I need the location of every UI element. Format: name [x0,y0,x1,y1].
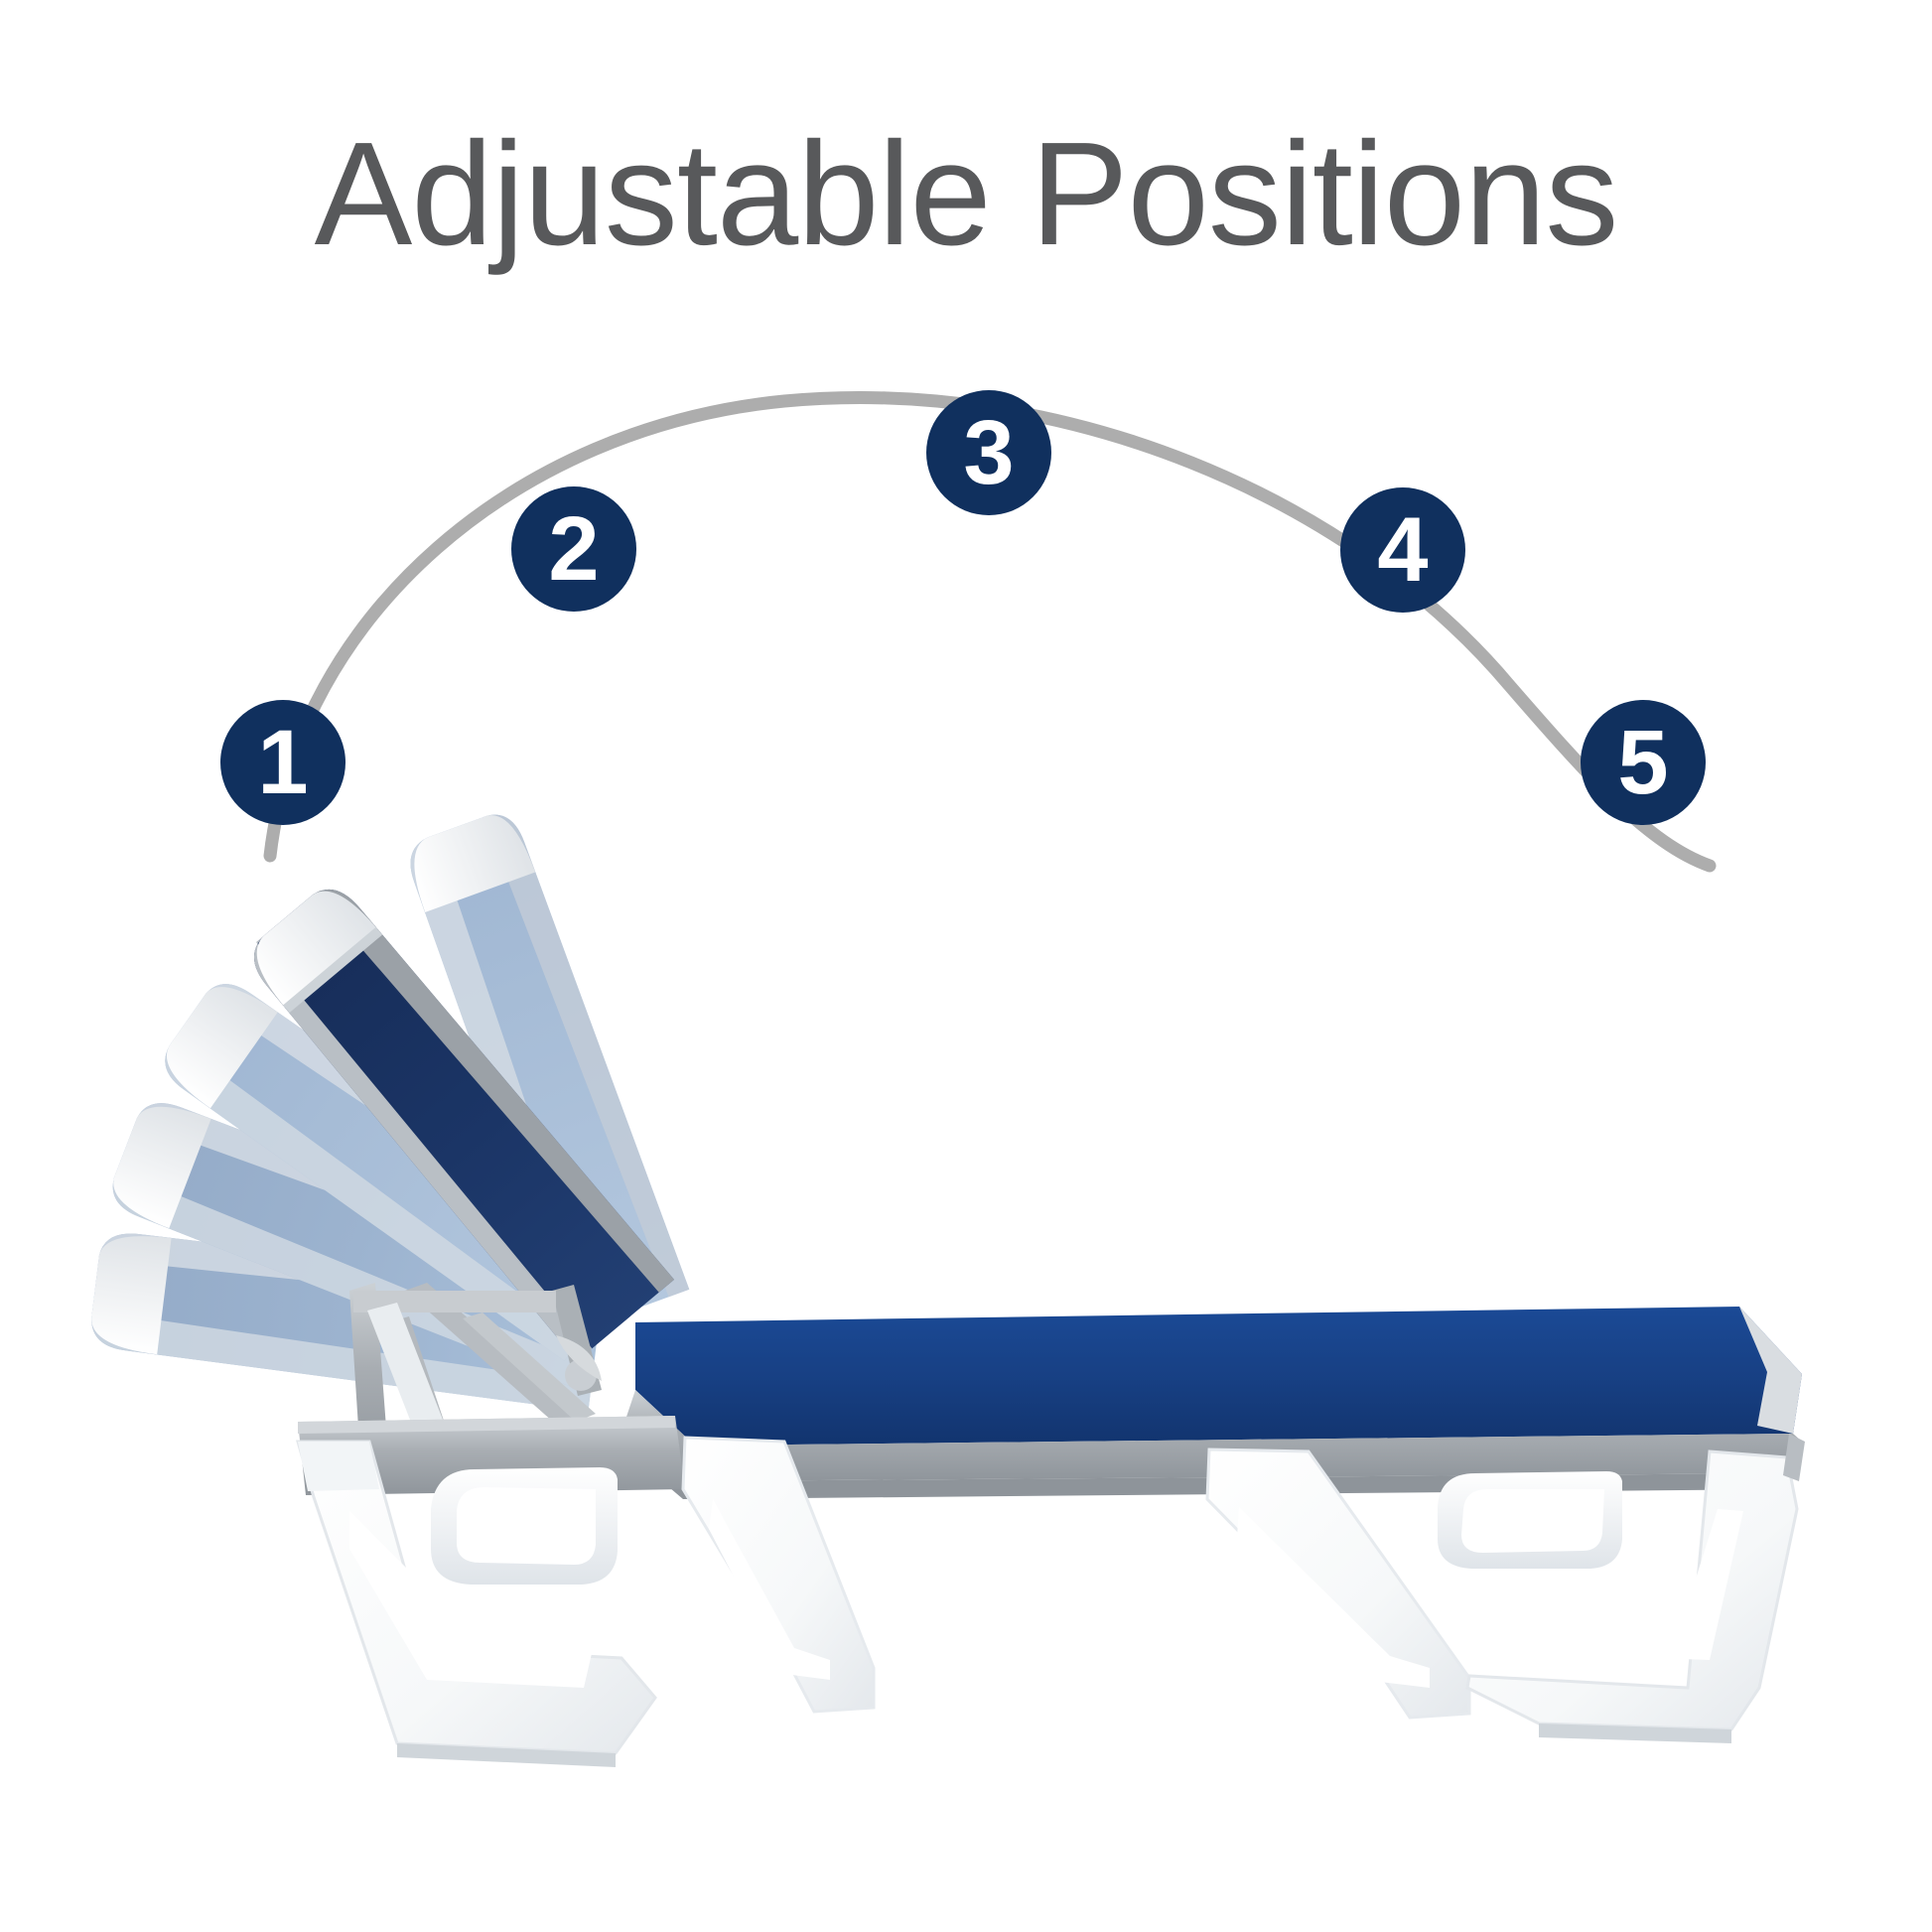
position-badge-2-label: 2 [548,498,599,600]
wheel-housing-inner [457,1487,596,1565]
position-badges: 1 2 3 4 5 [220,390,1706,825]
position-badge-3-label: 3 [963,402,1014,503]
front-wheel-housing [1438,1471,1622,1569]
rear-wheel-housing [431,1467,618,1585]
position-badge-2[interactable]: 2 [511,486,636,612]
position-badge-4[interactable]: 4 [1340,487,1465,613]
position-badge-5-label: 5 [1617,712,1668,813]
infographic-canvas: Adjustable Positions [0,0,1932,1932]
position-badge-3[interactable]: 3 [926,390,1051,515]
chaise-lounge-illustration [87,806,1805,1767]
position-badge-1[interactable]: 1 [220,700,345,825]
ghost-backrest-cap [88,1230,172,1355]
seat-fabric [635,1307,1802,1446]
position-badge-1-label: 1 [257,712,308,813]
position-badge-5[interactable]: 5 [1581,700,1706,825]
product-diagram: 1 2 3 4 5 [0,0,1932,1932]
front-wheel-housing-inner [1461,1489,1604,1553]
position-badge-4-label: 4 [1377,499,1428,601]
left-leg-top-joint [298,1442,379,1491]
